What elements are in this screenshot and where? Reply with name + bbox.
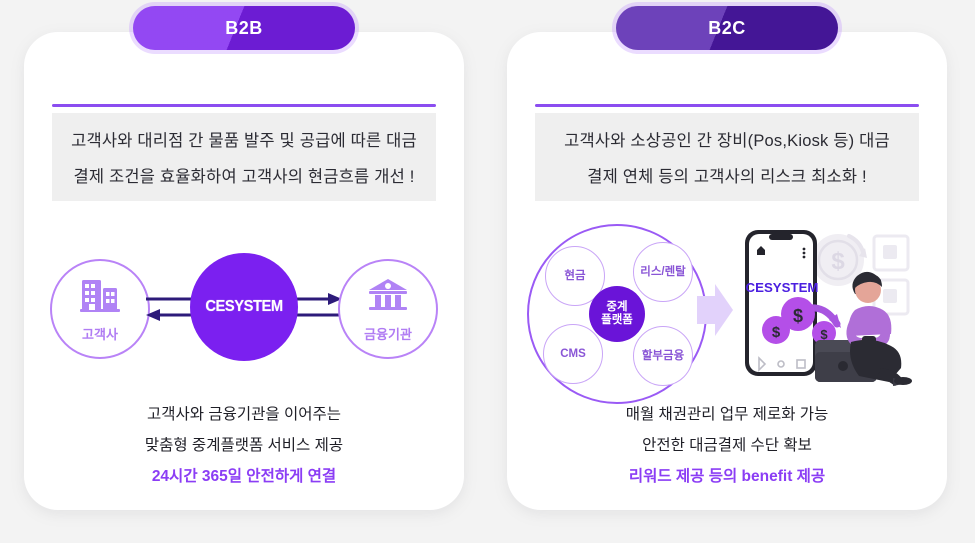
description-line: 결제 조건을 효율화하여 고객사의 현금흐름 개선 ! [73, 163, 414, 187]
footer-b2b: 고객사와 금융기관을 이어주는 맞춤형 중계플랫폼 서비스 제공 24시간 36… [24, 402, 464, 486]
flow-diagram-b2b: 고객사 CESYSTEM [24, 247, 464, 387]
footer-line: 고객사와 금융기관을 이어주는 [147, 402, 341, 424]
card-b2b: B2B 고객사와 대리점 간 물품 발주 및 공급에 따른 대금 결제 조건을 … [24, 32, 464, 510]
footer-line: 맞춤형 중계플랫폼 서비스 제공 [145, 433, 343, 455]
footer-line: 안전한 대금결제 수단 확보 [642, 433, 812, 455]
cluster-diagram-b2c: 현금 리스/렌탈 CMS 할부금융 중계 플랫폼 [527, 224, 707, 404]
cluster-bubble-install: 할부금융 [633, 326, 693, 386]
right-chevron-arrow-icon [695, 282, 735, 343]
description-box-b2c: 고객사와 소상공인 간 장비(Pos,Kiosk 등) 대금 결제 연체 등의 … [535, 113, 919, 201]
footer-line-highlight: 리워드 제공 등의 benefit 제공 [629, 464, 825, 486]
card-b2c: B2C 고객사와 소상공인 간 장비(Pos,Kiosk 등) 대금 결제 연체… [507, 32, 947, 510]
svg-text:$: $ [772, 324, 781, 341]
cluster-center-platform: 중계 플랫폼 [589, 286, 645, 342]
flow-node-customer: 고객사 [50, 259, 150, 359]
badge-b2b: B2B [133, 6, 355, 50]
svg-text:$: $ [820, 327, 828, 342]
mobile-payment-illustration: $ CESYSTEM $ [731, 218, 921, 393]
svg-text:$: $ [793, 306, 803, 326]
footer-line-highlight: 24시간 365일 안전하게 연결 [152, 464, 336, 486]
flow-node-institution: 금융기관 [338, 259, 438, 359]
flow-node-hub-label: CESYSTEM [205, 298, 282, 316]
cluster-center-line1: 중계 [606, 301, 627, 314]
cluster-bubble-cms: CMS [543, 324, 603, 384]
svg-text:$: $ [831, 248, 845, 275]
office-building-icon [78, 276, 122, 321]
badge-b2c-label: B2C [708, 18, 746, 39]
flow-node-hub: CESYSTEM [190, 253, 298, 361]
badge-b2b-label: B2B [225, 18, 263, 39]
cluster-bubble-lease: 리스/렌탈 [633, 242, 693, 302]
bank-icon [366, 276, 410, 321]
flow-node-institution-label: 금융기관 [364, 324, 412, 343]
footer-line: 매월 채권관리 업무 제로화 가능 [626, 402, 829, 424]
footer-b2c: 매월 채권관리 업무 제로화 가능 안전한 대금결제 수단 확보 리워드 제공 … [507, 402, 947, 486]
cluster-center-line2: 플랫폼 [601, 314, 633, 327]
description-line: 결제 연체 등의 고객사의 리스크 최소화 ! [587, 163, 867, 187]
badge-b2c: B2C [616, 6, 838, 50]
description-box-b2b: 고객사와 대리점 간 물품 발주 및 공급에 따른 대금 결제 조건을 효율화하… [52, 113, 436, 201]
card-divider-b2b [52, 104, 436, 107]
description-line: 고객사와 소상공인 간 장비(Pos,Kiosk 등) 대금 [564, 127, 890, 151]
slide-canvas: B2B 고객사와 대리점 간 물품 발주 및 공급에 따른 대금 결제 조건을 … [0, 0, 975, 543]
card-divider-b2c [535, 104, 919, 107]
description-line: 고객사와 대리점 간 물품 발주 및 공급에 따른 대금 [71, 127, 417, 151]
flow-node-customer-label: 고객사 [82, 324, 118, 343]
svg-text:CESYSTEM: CESYSTEM [746, 280, 819, 295]
